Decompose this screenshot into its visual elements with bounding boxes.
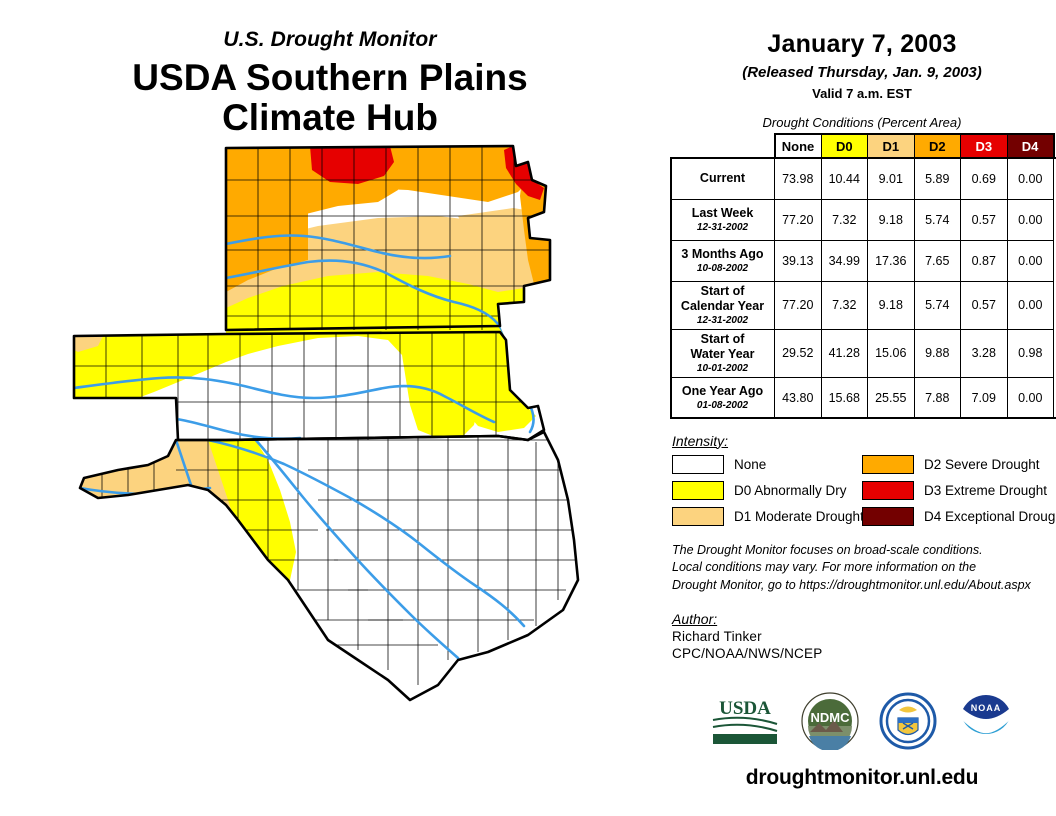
intensity-legend-title: Intensity:	[672, 433, 1056, 449]
table-cell: 3.28	[961, 329, 1008, 377]
table-cell: 43.80	[775, 377, 822, 418]
table-cell: 7.65	[914, 240, 961, 281]
date-block: January 7, 2003 (Released Thursday, Jan.…	[668, 0, 1056, 101]
logo-row: USDA NDMC	[668, 688, 1056, 758]
site-url[interactable]: droughtmonitor.unl.edu	[668, 766, 1056, 790]
table-col-header-d2: D2	[914, 134, 961, 158]
legend-grid: NoneD2 Severe DroughtD0 Abnormally DryD3…	[672, 455, 1056, 526]
table-cell: 0.57	[961, 199, 1008, 240]
legend-label: D1 Moderate Drought	[734, 509, 864, 524]
legend-label: D3 Extreme Drought	[924, 483, 1047, 498]
legend-label: None	[734, 457, 766, 472]
table-cell: 5.74	[914, 199, 961, 240]
table-row-label: Current	[671, 158, 775, 199]
table-cell: 9.01	[868, 158, 915, 199]
table-cell: 0.00	[1007, 377, 1054, 418]
legend-item: None	[672, 455, 862, 474]
table-header-row: NoneD0D1D2D3D4	[671, 134, 1054, 158]
right-panel: January 7, 2003 (Released Thursday, Jan.…	[668, 0, 1056, 816]
drought-map[interactable]	[58, 140, 668, 710]
table-row-label: Start ofCalendar Year12-31-2002	[671, 281, 775, 329]
legend-swatch	[862, 455, 914, 474]
author-label: Author:	[672, 611, 1056, 627]
table-row-label: One Year Ago01-08-2002	[671, 377, 775, 418]
legend-item: D1 Moderate Drought	[672, 507, 862, 526]
drought-conditions-table: NoneD0D1D2D3D4 Current73.9810.449.015.89…	[670, 133, 1055, 419]
page-eyebrow: U.S. Drought Monitor	[0, 28, 660, 52]
table-cell: 15.06	[868, 329, 915, 377]
svg-text:USDA: USDA	[719, 698, 771, 719]
note-line-1: The Drought Monitor focuses on broad-sca…	[672, 542, 1056, 560]
table-cell: 34.99	[821, 240, 868, 281]
table-corner-cell	[671, 134, 775, 158]
legend-swatch	[862, 481, 914, 500]
table-cell: 7.09	[961, 377, 1008, 418]
legend-label: D4 Exceptional Drought	[924, 509, 1056, 524]
note-line-2: Local conditions may vary. For more info…	[672, 559, 1056, 577]
page-title-line2: Climate Hub	[0, 98, 660, 138]
table-col-header-d3: D3	[961, 134, 1008, 158]
table-cell: 9.18	[868, 281, 915, 329]
disclaimer-notes: The Drought Monitor focuses on broad-sca…	[668, 542, 1056, 595]
table-cell: 5.89	[914, 158, 961, 199]
table-cell: 7.88	[914, 377, 961, 418]
table-row-subdate: 12-31-2002	[675, 222, 770, 234]
table-cell: 0.87	[961, 240, 1008, 281]
table-row-label: Start ofWater Year10-01-2002	[671, 329, 775, 377]
table-body: Current73.9810.449.015.890.690.00Last We…	[671, 158, 1054, 418]
legend-swatch	[862, 507, 914, 526]
table-row: 3 Months Ago10-08-200239.1334.9917.367.6…	[671, 240, 1054, 281]
usda-logo[interactable]: USDA	[709, 694, 781, 753]
drought-monitor-page: U.S. Drought Monitor USDA Southern Plain…	[0, 0, 1056, 816]
table-cell: 41.28	[821, 329, 868, 377]
table-cell: 9.18	[868, 199, 915, 240]
legend-label: D0 Abnormally Dry	[734, 483, 847, 498]
note-line-3: Drought Monitor, go to https://droughtmo…	[672, 577, 1056, 595]
table-row-label: 3 Months Ago10-08-2002	[671, 240, 775, 281]
table-cell: 9.88	[914, 329, 961, 377]
table-caption: Drought Conditions (Percent Area)	[668, 115, 1056, 130]
svg-text:NOAA: NOAA	[971, 703, 1002, 713]
table-cell: 77.20	[775, 199, 822, 240]
nws-logo[interactable]	[879, 692, 937, 755]
svg-text:NDMC: NDMC	[811, 710, 851, 725]
table-cell: 0.00	[1007, 281, 1054, 329]
table-col-header-d0: D0	[821, 134, 868, 158]
table-cell: 15.68	[821, 377, 868, 418]
intensity-legend: Intensity: NoneD2 Severe DroughtD0 Abnor…	[668, 433, 1056, 526]
table-row-subdate: 10-08-2002	[675, 263, 770, 275]
report-date: January 7, 2003	[668, 30, 1056, 59]
release-date: (Released Thursday, Jan. 9, 2003)	[668, 64, 1056, 81]
table-row: Start ofCalendar Year12-31-200277.207.32…	[671, 281, 1054, 329]
title-block: U.S. Drought Monitor USDA Southern Plain…	[0, 28, 660, 137]
table-row: Start ofWater Year10-01-200229.5241.2815…	[671, 329, 1054, 377]
table-row-subdate: 01-08-2002	[675, 400, 770, 412]
legend-item: D3 Extreme Drought	[862, 481, 1052, 500]
table-cell: 77.20	[775, 281, 822, 329]
table-row: Current73.9810.449.015.890.690.00	[671, 158, 1054, 199]
table-row-label: Last Week12-31-2002	[671, 199, 775, 240]
author-block: Author: Richard Tinker CPC/NOAA/NWS/NCEP	[668, 611, 1056, 661]
table-row: One Year Ago01-08-200243.8015.6825.557.8…	[671, 377, 1054, 418]
table-row: Last Week12-31-200277.207.329.185.740.57…	[671, 199, 1054, 240]
table-cell: 0.00	[1007, 199, 1054, 240]
ndmc-logo[interactable]: NDMC	[801, 692, 859, 755]
page-title-line1: USDA Southern Plains	[0, 58, 660, 98]
legend-item: D2 Severe Drought	[862, 455, 1052, 474]
table-cell: 0.57	[961, 281, 1008, 329]
author-name: Richard Tinker	[672, 629, 1056, 644]
table-cell: 0.00	[1007, 240, 1054, 281]
table-col-header-d4: D4	[1007, 134, 1054, 158]
table-cell: 17.36	[868, 240, 915, 281]
conditions-table-holder: NoneD0D1D2D3D4 Current73.9810.449.015.89…	[668, 133, 1056, 419]
table-cell: 7.32	[821, 281, 868, 329]
legend-swatch	[672, 455, 724, 474]
table-row-subdate: 10-01-2002	[675, 363, 770, 375]
table-row-subdate: 12-31-2002	[675, 315, 770, 327]
table-cell: 29.52	[775, 329, 822, 377]
table-cell: 0.69	[961, 158, 1008, 199]
table-cell: 7.32	[821, 199, 868, 240]
author-affiliation: CPC/NOAA/NWS/NCEP	[672, 646, 1056, 661]
legend-label: D2 Severe Drought	[924, 457, 1040, 472]
table-cell: 25.55	[868, 377, 915, 418]
table-col-header-d1: D1	[868, 134, 915, 158]
table-col-header-none: None	[775, 134, 822, 158]
drought-map-svg[interactable]	[58, 140, 668, 710]
page-title: USDA Southern Plains Climate Hub	[0, 58, 660, 137]
legend-swatch	[672, 481, 724, 500]
noaa-logo[interactable]: NOAA	[957, 692, 1015, 755]
table-cell: 73.98	[775, 158, 822, 199]
table-cell: 10.44	[821, 158, 868, 199]
legend-item: D4 Exceptional Drought	[862, 507, 1052, 526]
table-cell: 0.00	[1007, 158, 1054, 199]
legend-swatch	[672, 507, 724, 526]
legend-item: D0 Abnormally Dry	[672, 481, 862, 500]
table-cell: 5.74	[914, 281, 961, 329]
table-cell: 0.98	[1007, 329, 1054, 377]
valid-time: Valid 7 a.m. EST	[668, 86, 1056, 101]
table-cell: 39.13	[775, 240, 822, 281]
